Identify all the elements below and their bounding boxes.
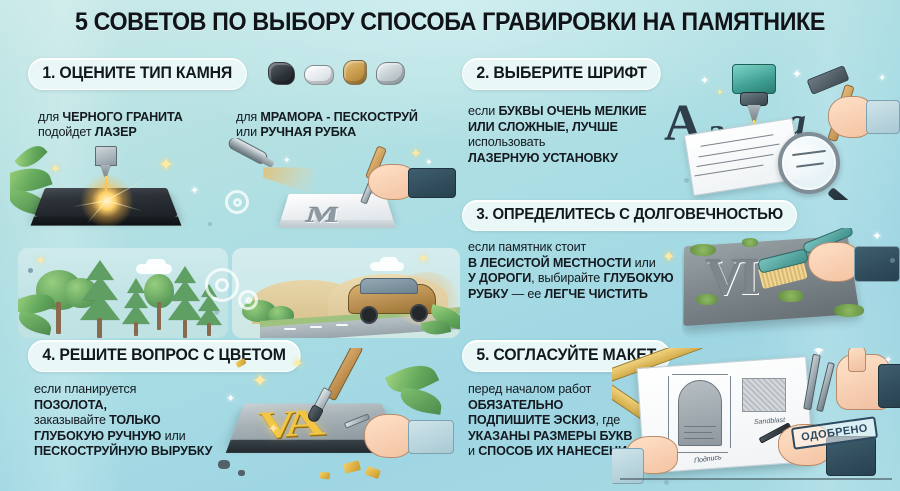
tip-5-line1: перед началом работ [468, 382, 591, 396]
dot-decor [208, 222, 212, 226]
laser-head-collar [740, 92, 768, 106]
sparkle-icon: ✦ [700, 76, 709, 87]
tip-3-line4-mid: — ее [508, 287, 544, 301]
dot-decor [28, 268, 33, 273]
sheet-text-line [684, 438, 714, 439]
moss-patch [690, 244, 716, 256]
illustration-font-choice: A a a ✦ ✦ ✦ ✦ [660, 60, 900, 200]
tip-1-copy-left: для ЧЕРНОГО ГРАНИТА подойдет ЛАЗЕР [38, 110, 238, 141]
tip-3-line3-bold: У ДОРОГИ [468, 271, 531, 285]
moss-patch [834, 304, 864, 317]
tip-1-left-line2-light: подойдет [38, 125, 95, 139]
tip-3-line2-bold: В ЛЕСИСТОЙ МЕСТНОСТИ [468, 256, 631, 270]
tree-trunk [56, 302, 61, 334]
dot-decor [684, 178, 689, 183]
moss-patch [778, 290, 804, 302]
illustration-sketch-approval: Sandblast Подпись ОДОБРЕНО ✦ ✦ [612, 348, 900, 490]
illustration-forest-scene [18, 248, 228, 338]
monument-drawing [678, 380, 722, 446]
sparkle-icon: ✦ [268, 422, 279, 435]
pen-icon [816, 362, 835, 412]
tip-3-line2-tail: или [631, 256, 655, 270]
magnifier-handle [827, 187, 860, 200]
road-dash [336, 324, 348, 326]
tip-1-right-line1-bold: МРАМОРА - ПЕСКОСТРУЙ [260, 110, 417, 124]
conifer-tree [80, 260, 120, 336]
grey-stone-icon [376, 62, 405, 85]
illustration-gilding-letters: VA ✦ ✦ ✦ ✦ [196, 348, 460, 490]
tip-5-line4-bold: УКАЗАНЫ РАЗМЕРЫ БУКВ [468, 429, 632, 443]
sparkle-icon: ✦ [884, 356, 892, 366]
tree-trunk [157, 302, 161, 330]
gear-icon [205, 268, 239, 302]
tip-4-line1: если планируется [34, 382, 136, 396]
sparkle-icon: ✦ [792, 68, 802, 80]
stone-chip [218, 460, 230, 469]
sleeve [408, 420, 454, 454]
car-wheel [360, 306, 378, 324]
sparkle-icon: ✦ [283, 156, 291, 165]
tip-3-line3-mid: , выбирайте [531, 271, 603, 285]
laser-head-body [732, 64, 776, 94]
cloud [146, 259, 166, 269]
gold-leaf-flake [343, 460, 361, 474]
sparkle-icon: ✦ [50, 162, 61, 175]
tip-4-line4-tail: или [161, 429, 185, 443]
cloud [380, 257, 398, 266]
sparkle-icon: ✦ [872, 230, 882, 242]
measure-line [672, 374, 728, 375]
texture-swatch [742, 378, 786, 412]
sparkle-icon: ✦ [252, 372, 268, 391]
tip-4-line5-bold: ПЕСКОСТРУЙНУЮ ВЫРУБКУ [34, 444, 212, 458]
sheet-text-line [684, 432, 712, 433]
tip-2-line4-bold: ЛАЗЕРНУЮ УСТАНОВКУ [468, 151, 618, 165]
tip-3-line3-bold2: ГЛУБОКУЮ [604, 271, 674, 285]
sparkle-icon: ✦ [716, 88, 724, 97]
tip-4-line3-bold: ТОЛЬКО [109, 413, 160, 427]
measure-line [730, 376, 731, 448]
tan-sandstone-stone-icon [343, 60, 367, 85]
sparkle-icon: ✦ [292, 356, 304, 370]
sparkle-icon: ✦ [158, 156, 174, 175]
tip-5-line2-bold: ОБЯЗАТЕЛЬНО [468, 398, 563, 412]
hand-holding-brush [808, 242, 860, 282]
infographic-canvas: 5 СОВЕТОВ ПО ВЫБОРУ СПОСОБА ГРАВИРОВКИ Н… [0, 0, 900, 491]
car-wheel [410, 304, 428, 322]
moss-patch [696, 294, 718, 305]
dot-decor [890, 258, 895, 263]
tip-2-line2-bold: ИЛИ СЛОЖНЫЕ, ЛУЧШЕ [468, 120, 618, 134]
tip-1-right-line1-light: для [236, 110, 260, 124]
sparkle-icon: ✦ [418, 252, 429, 265]
dot-decor [664, 480, 669, 485]
sheet-text-line [684, 426, 716, 427]
leaf-decor [18, 311, 53, 336]
thumb-extension [848, 348, 866, 372]
page-title: 5 СОВЕТОВ ПО ВЫБОРУ СПОСОБА ГРАВИРОВКИ Н… [32, 8, 869, 37]
illustration-moss-brush-cleaning: VI ✦ [682, 228, 900, 338]
sparkle-icon: ✦ [410, 146, 422, 160]
tip-3-line1: если памятник стоит [468, 240, 586, 254]
sparkle-icon: ✦ [812, 348, 825, 360]
laser-nozzle-icon [747, 105, 761, 121]
gear-icon [225, 190, 249, 214]
illustration-laser-engraving-black-slab: ✦ ✦ ✦ [10, 140, 225, 250]
road-dash [310, 326, 322, 328]
tip-1-left-line2-bold: ЛАЗЕР [95, 125, 137, 139]
tip-4-line4-bold: ГЛУБОКУЮ РУЧНУЮ [34, 429, 161, 443]
illustration-sandblast-and-chisel-marble: M ✦ ✦ ✦ [225, 138, 460, 250]
hand-with-stylus [364, 414, 414, 458]
tip-4-line2-bold: ПОЗОЛОТА, [34, 398, 107, 412]
laser-head-icon [95, 146, 117, 166]
tip-1-heading: 1. ОЦЕНИТЕ ТИП КАМНЯ [28, 58, 246, 90]
sleeve [854, 246, 900, 282]
sparkle-icon: ✦ [36, 256, 45, 267]
sleeve [866, 100, 900, 134]
tip-2-line3-light: использовать [468, 135, 545, 149]
sparkle-icon: ✦ [226, 394, 235, 405]
tip-2-heading: 2. ВЫБЕРИТЕ ШРИФТ [462, 58, 661, 90]
sparkle-icon: ✦ [662, 250, 675, 266]
leaf-decor [399, 387, 444, 415]
gear-icon-small [238, 290, 258, 310]
tip-2-line1-light: если [468, 104, 498, 118]
stone-chip [238, 470, 245, 476]
car-window [360, 278, 418, 294]
sparkle-icon: ✦ [425, 158, 433, 167]
sleeve [878, 364, 900, 408]
gold-leaf-flake [235, 358, 247, 368]
tip-1-left-line1-bold: ЧЕРНОГО ГРАНИТА [62, 110, 182, 124]
tip-3-heading: 3. ОПРЕДЕЛИТЕСЬ С ДОЛГОВЕЧНОСТЬЮ [462, 200, 797, 231]
tip-5-line3-bold: ПОДПИШИТЕ ЭСКИЗ [468, 413, 596, 427]
tip-1-copy-right: для МРАМОРА - ПЕСКОСТРУЙ или РУЧНАЯ РУБК… [236, 110, 461, 141]
sparkle-icon: ✦ [190, 186, 199, 197]
sandblast-nozzle-icon [226, 138, 269, 166]
horizon-line [620, 478, 892, 480]
measure-line [670, 452, 728, 453]
dark-granite-stone-icon [268, 62, 295, 85]
tip-2-line1-bold: БУКВЫ ОЧЕНЬ МЕЛКИЕ [498, 104, 646, 118]
tip-4-line3-light: заказывайте [34, 413, 109, 427]
measure-line [668, 376, 669, 448]
moss-patch [742, 238, 758, 247]
sparkle-icon: ✦ [878, 74, 886, 84]
white-marble-stone-icon [304, 65, 334, 85]
tip-1-left-line1-light: для [38, 110, 62, 124]
tip-3-line4-bold2: ЛЕГЧЕ ЧИСТИТЬ [544, 287, 647, 301]
gold-leaf-flake [365, 466, 381, 479]
stone-type-icons [268, 60, 405, 85]
tip-3-line4-bold: РУБКУ [468, 287, 508, 301]
dot-decor [214, 310, 219, 315]
gold-leaf-flake [320, 471, 331, 479]
sleeve [408, 168, 456, 198]
road-dash [284, 328, 296, 330]
tip-5-line5-light: и [468, 444, 478, 458]
